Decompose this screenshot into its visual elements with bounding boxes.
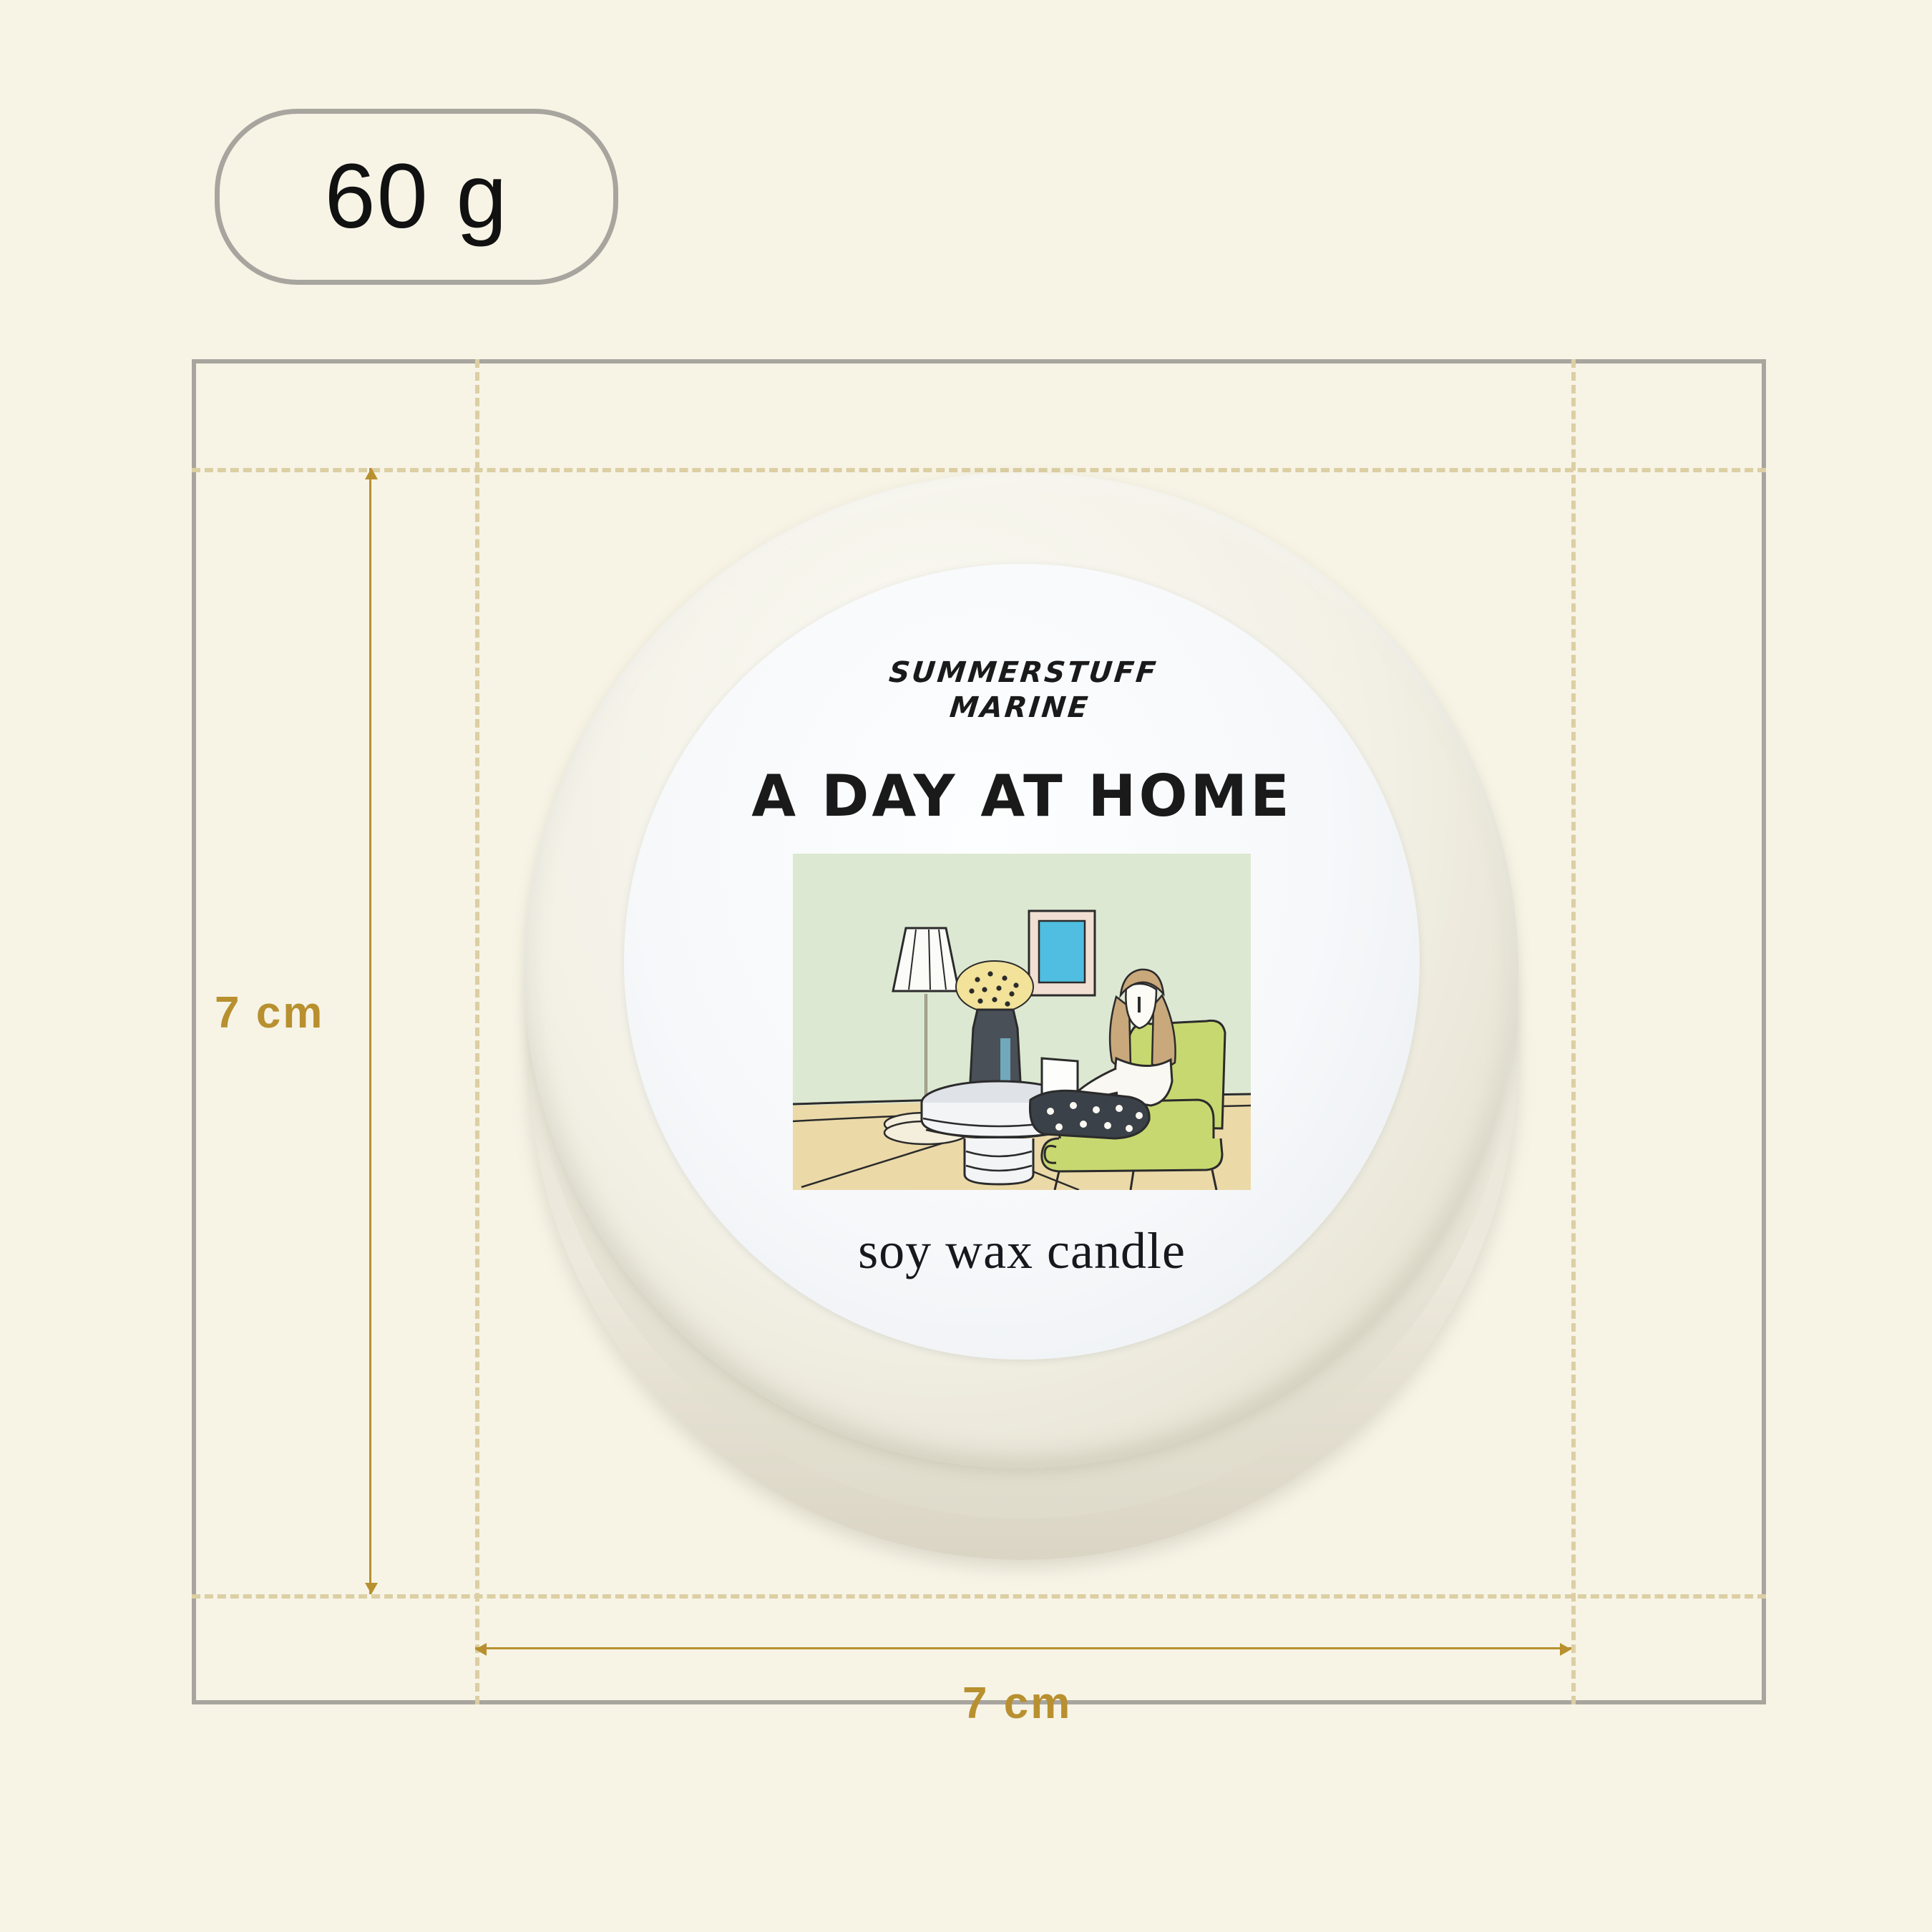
guide-line-left [475,359,479,1704]
scene-illustration [793,854,1251,1190]
guide-line-bottom [192,1594,1766,1599]
weight-value: 60 g [324,151,508,243]
height-label: 7 cm [215,987,324,1038]
brand-line-2: MARINE [884,691,1156,726]
arrow-up-icon [365,468,378,479]
width-dimension-line [475,1647,1571,1649]
weight-badge: 60 g [215,109,618,285]
tin-lid: SUMMERSTUFF MARINE A DAY AT HOME [524,472,1518,1468]
arrow-down-icon [365,1583,378,1594]
product-label: SUMMERSTUFF MARINE A DAY AT HOME [624,564,1420,1360]
arrow-right-icon [1560,1643,1571,1656]
height-dimension-line [369,468,371,1594]
brand-name: SUMMERSTUFF MARINE [884,655,1160,726]
arrow-left-icon [475,1643,487,1656]
brand-line-1: SUMMERSTUFF [888,656,1160,689]
candle-tin: SUMMERSTUFF MARINE A DAY AT HOME [508,472,1538,1589]
guide-line-right [1571,359,1576,1704]
product-title: A DAY AT HOME [751,763,1292,829]
width-label: 7 cm [962,1678,1072,1729]
product-tagline: soy wax candle [858,1221,1186,1281]
